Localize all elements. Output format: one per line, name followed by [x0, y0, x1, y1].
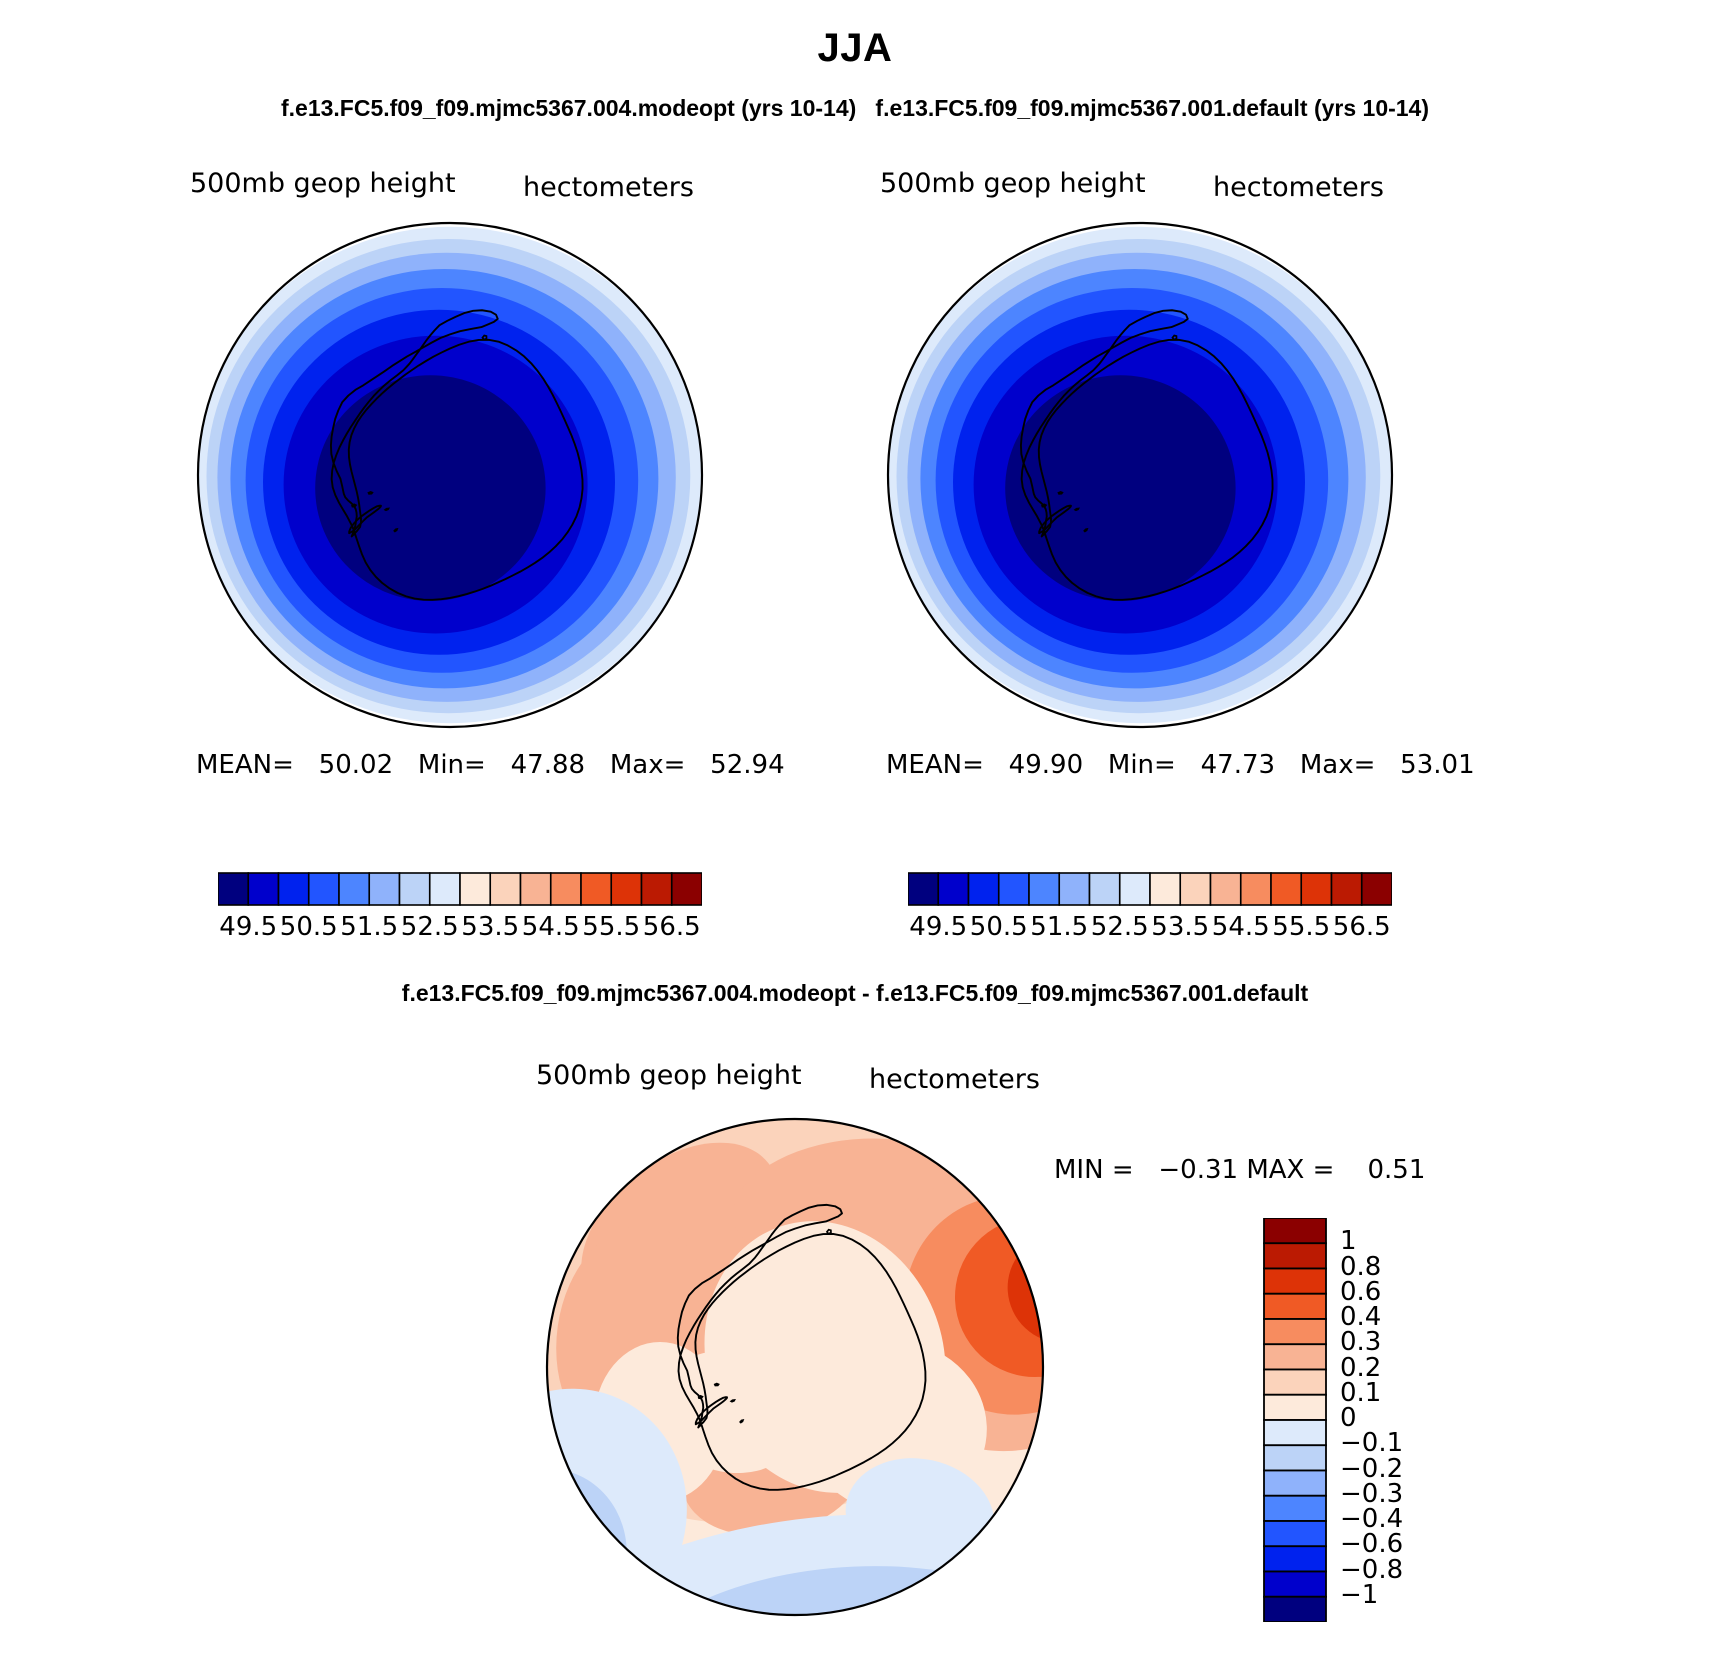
contour-band-7 [315, 375, 545, 601]
colorbar-modeopt[interactable] [218, 872, 702, 906]
colorbar-segment-1[interactable] [1264, 1243, 1326, 1268]
coastline-island-0 [385, 509, 388, 511]
colorbar-default[interactable] [908, 872, 1392, 906]
colorbar-segment-15[interactable] [1362, 873, 1392, 905]
anomaly-fill-group [525, 1095, 1065, 1635]
map-difference [525, 1095, 1065, 1635]
colorbar-segment-8[interactable] [460, 873, 490, 905]
colorbar-segment-4[interactable] [1264, 1319, 1326, 1344]
coastline-island-1 [1059, 492, 1063, 494]
colorbar-segment-4[interactable] [339, 873, 369, 905]
colorbar-segment-12[interactable] [581, 873, 611, 905]
contour-fill-group [197, 227, 704, 723]
colorbar-segment-14[interactable] [1332, 873, 1362, 905]
diff-units-label: hectometers [869, 1064, 1040, 1095]
colorbar-segment-11[interactable] [1264, 1496, 1326, 1521]
colorbar-segment-0[interactable] [218, 873, 248, 905]
colorbar-segment-9[interactable] [1264, 1445, 1326, 1470]
right-units-label: hectometers [1213, 172, 1384, 203]
colorbar-segment-9[interactable] [1180, 873, 1210, 905]
colorbar-segment-9[interactable] [490, 873, 520, 905]
colorbar-segment-7[interactable] [1264, 1395, 1326, 1420]
colorbar-segment-14[interactable] [1264, 1572, 1326, 1597]
page-title: JJA [0, 26, 1710, 71]
map-default [870, 210, 1410, 740]
coastline-island-2 [1084, 529, 1087, 531]
colorbar-segment-6[interactable] [1090, 873, 1120, 905]
colorbar-segment-7[interactable] [1120, 873, 1150, 905]
coastline-island-0 [1075, 509, 1078, 511]
colorbar-segment-5[interactable] [1059, 873, 1089, 905]
right-variable-label: 500mb geop height [880, 168, 1146, 199]
colorbar-tick-56.5: 56.5 [627, 912, 717, 942]
colorbar-segment-6[interactable] [1264, 1370, 1326, 1395]
colorbar-difference[interactable] [1263, 1218, 1327, 1622]
case-subtitle: f.e13.FC5.f09_f09.mjmc5367.004.modeopt (… [0, 95, 1710, 122]
diff-minmax: MIN = −0.31 MAX = 0.51 [1054, 1155, 1425, 1185]
diff-variable-label: 500mb geop height [536, 1060, 802, 1091]
anomaly-pale-centre2 [727, 1255, 843, 1359]
colorbar-segment-15[interactable] [672, 873, 702, 905]
coastline-island-2 [394, 529, 397, 531]
colorbar-segment-8[interactable] [1150, 873, 1180, 905]
colorbar-segment-10[interactable] [521, 873, 551, 905]
colorbar-segment-11[interactable] [1241, 873, 1271, 905]
colorbar-segment-10[interactable] [1264, 1471, 1326, 1496]
figure-canvas: JJA f.e13.FC5.f09_f09.mjmc5367.004.modeo… [0, 0, 1710, 1663]
colorbar-segment-1[interactable] [938, 873, 968, 905]
colorbar-segment-11[interactable] [551, 873, 581, 905]
colorbar-segment-3[interactable] [1264, 1294, 1326, 1319]
colorbar-segment-2[interactable] [279, 873, 309, 905]
coastline-island-2 [740, 1420, 743, 1422]
coastline-island-0 [731, 1400, 734, 1402]
colorbar-segment-2[interactable] [1264, 1269, 1326, 1294]
colorbar-segment-7[interactable] [430, 873, 460, 905]
colorbar-segment-0[interactable] [1264, 1218, 1326, 1243]
colorbar-segment-12[interactable] [1264, 1521, 1326, 1546]
colorbar-segment-5[interactable] [369, 873, 399, 905]
left-variable-label: 500mb geop height [190, 168, 456, 199]
colorbar-segment-2[interactable] [969, 873, 999, 905]
colorbar-segment-3[interactable] [309, 873, 339, 905]
colorbar-segment-15[interactable] [1264, 1597, 1326, 1622]
colorbar-segment-3[interactable] [999, 873, 1029, 905]
colorbar-tick-56.5: 56.5 [1317, 912, 1407, 942]
colorbar-segment-4[interactable] [1029, 873, 1059, 905]
colorbar-segment-10[interactable] [1211, 873, 1241, 905]
colorbar-segment-14[interactable] [642, 873, 672, 905]
left-units-label: hectometers [523, 172, 694, 203]
colorbar-segment-12[interactable] [1271, 873, 1301, 905]
colorbar-segment-0[interactable] [908, 873, 938, 905]
coastline-island-1 [715, 1384, 719, 1386]
colorbar-segment-8[interactable] [1264, 1420, 1326, 1445]
colorbar-tick-neg1: −1 [1340, 1580, 1430, 1610]
map-modeopt [180, 210, 720, 740]
colorbar-segment-6[interactable] [400, 873, 430, 905]
difference-subtitle: f.e13.FC5.f09_f09.mjmc5367.004.modeopt -… [0, 980, 1710, 1007]
contour-fill-group [887, 227, 1394, 723]
colorbar-segment-1[interactable] [248, 873, 278, 905]
colorbar-segment-13[interactable] [1264, 1546, 1326, 1571]
colorbar-segment-13[interactable] [1301, 873, 1331, 905]
colorbar-segment-13[interactable] [611, 873, 641, 905]
contour-band-7 [1005, 375, 1235, 601]
coastline-island-1 [369, 492, 373, 494]
colorbar-segment-5[interactable] [1264, 1344, 1326, 1369]
